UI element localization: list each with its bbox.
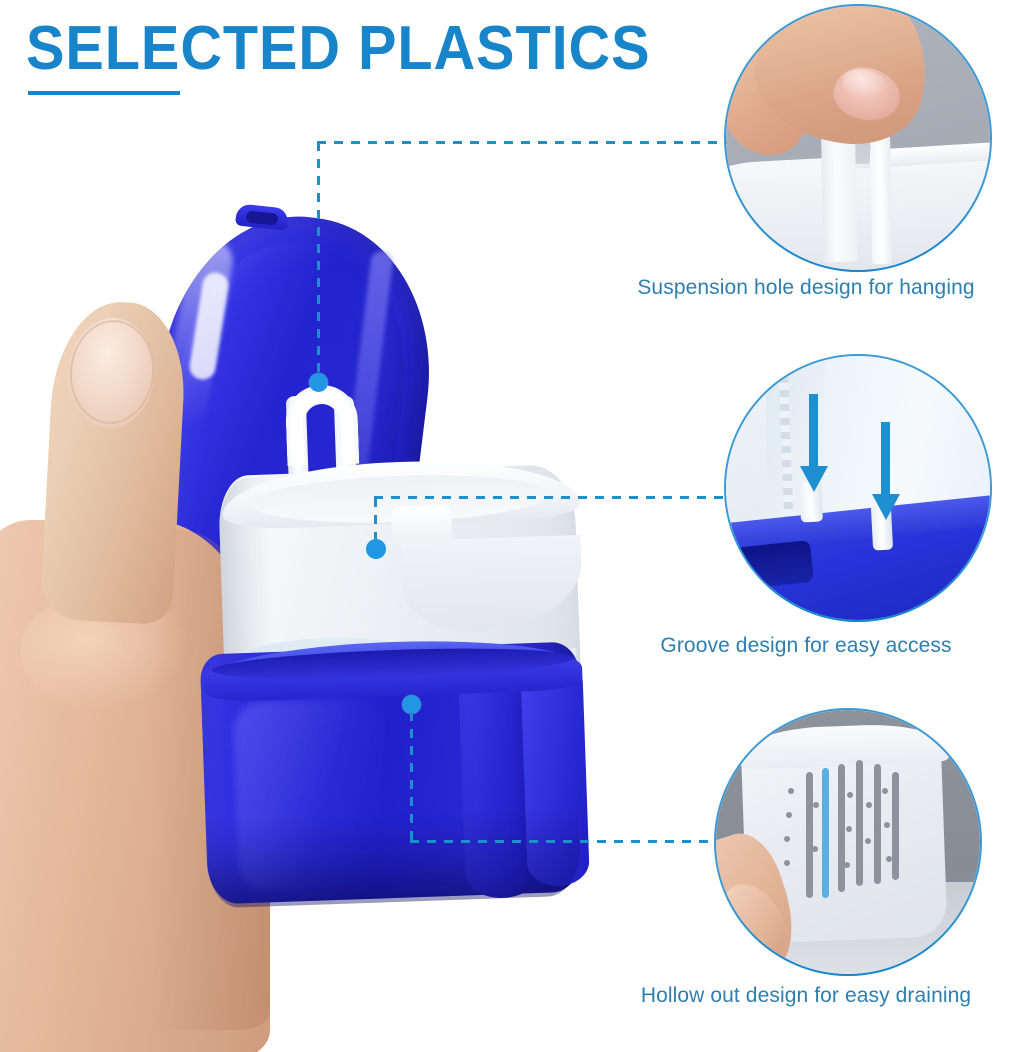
hotspot-dot-suspension-hole[interactable] xyxy=(309,373,328,392)
connector-1-vertical xyxy=(317,142,320,384)
connector-2-horizontal xyxy=(374,496,736,499)
blue-base-opening xyxy=(732,540,814,590)
inset-suspension-hole-image xyxy=(726,6,990,270)
drain-slot-4 xyxy=(856,760,863,886)
inset-hollow-out[interactable] xyxy=(716,710,980,974)
drain-hole xyxy=(813,802,819,808)
drain-slot-3 xyxy=(838,764,845,892)
arrow-head xyxy=(800,466,828,492)
drain-hole xyxy=(886,856,892,862)
blue-base-shadow xyxy=(207,806,582,909)
drain-hole xyxy=(784,860,790,866)
arrow-shaft xyxy=(881,422,890,500)
inset-suspension-hole[interactable] xyxy=(726,6,990,270)
drain-slot-2 xyxy=(822,768,829,898)
drain-slot-5 xyxy=(874,764,881,884)
drain-hole xyxy=(812,846,818,852)
drain-hole xyxy=(847,792,853,798)
infographic-page: SELECTED PLASTICS xyxy=(0,0,1024,1052)
caption-suspension-hole: Suspension hole design for hanging xyxy=(606,276,1006,300)
main-product-photo xyxy=(0,180,660,1052)
caption-groove: Groove design for easy access xyxy=(606,634,1006,658)
caption-hollow-out: Hollow out design for easy draining xyxy=(606,984,1006,1008)
hotspot-dot-groove[interactable] xyxy=(366,539,386,559)
drain-hole xyxy=(784,836,790,842)
drain-hole xyxy=(786,812,792,818)
drain-hole xyxy=(788,788,794,794)
drain-hole xyxy=(884,822,890,828)
connector-3-horizontal xyxy=(410,840,736,843)
title-block: SELECTED PLASTICS xyxy=(26,14,686,106)
connector-3-vertical xyxy=(410,712,413,842)
arrow-shaft xyxy=(809,394,818,472)
drain-hole xyxy=(866,802,872,808)
page-title: SELECTED PLASTICS xyxy=(26,14,640,84)
drain-slot-6 xyxy=(892,772,899,880)
drain-hole xyxy=(865,838,871,844)
title-underline xyxy=(28,91,180,95)
drain-hole xyxy=(844,862,850,868)
inset-groove-image xyxy=(726,356,990,620)
basket-handle-arch-inner xyxy=(289,388,356,466)
drain-slot-1 xyxy=(806,772,813,898)
inset-hollow-out-image xyxy=(716,710,980,974)
drain-hole xyxy=(882,788,888,794)
connector-1-horizontal xyxy=(317,141,737,144)
drain-hole xyxy=(846,826,852,832)
arrow-head xyxy=(872,494,900,520)
inset-groove[interactable] xyxy=(726,356,990,620)
